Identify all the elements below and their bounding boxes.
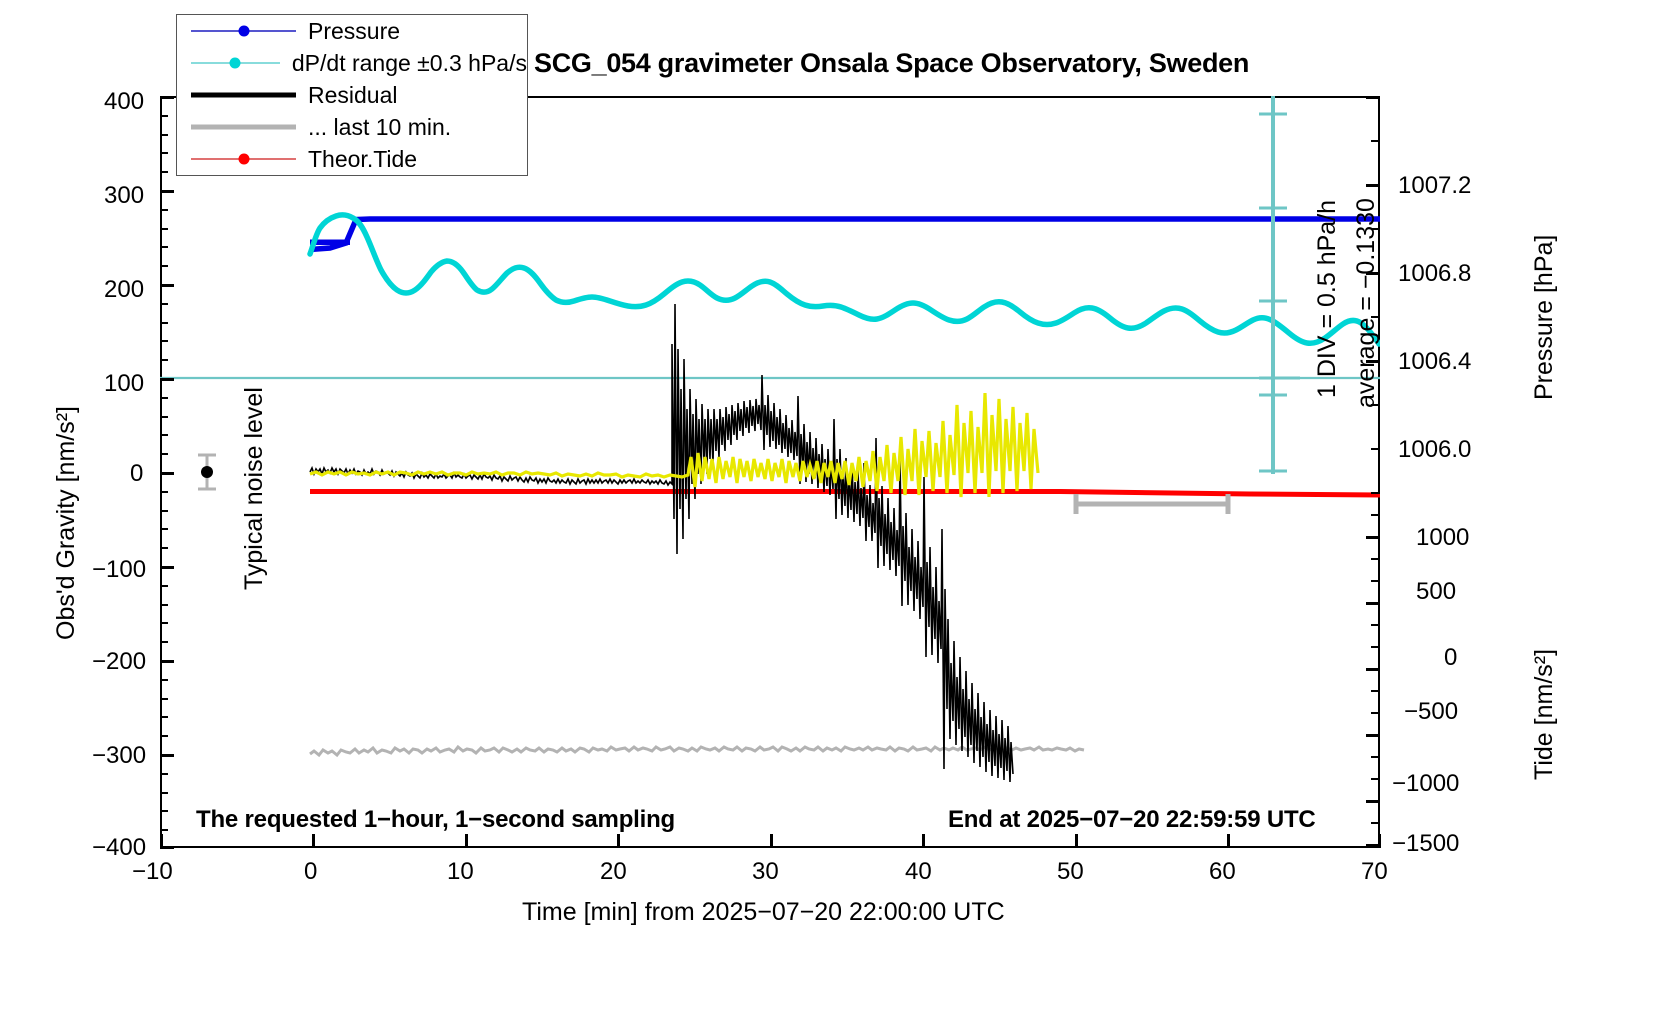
x-tick-60: 60: [1209, 858, 1236, 886]
legend-label-theortide: Theor.Tide: [308, 146, 417, 173]
last10-span-bar: [1076, 494, 1228, 514]
legend-item-dpdt[interactable]: dP/dt range ±0.3 hPa/s: [191, 47, 527, 79]
y-tick-m300: −300: [92, 742, 146, 770]
legend-label-last10: ... last 10 min.: [308, 114, 451, 141]
x-axis-label: Time [min] from 2025−07−20 22:00:00 UTC: [522, 898, 1005, 927]
tide-tick-500: 500: [1416, 578, 1456, 606]
x-tick-10: 10: [447, 858, 474, 886]
tide-axis-label: Tide [nm/s²]: [1530, 649, 1559, 780]
x-tick-40: 40: [905, 858, 932, 886]
typical-noise-label: Typical noise level: [240, 387, 269, 590]
x-tick-70: 70: [1361, 858, 1388, 886]
chart-title: SCG_054 gravimeter Onsala Space Observat…: [534, 48, 1249, 79]
pressure-tick-1006-8: 1006.8: [1398, 260, 1471, 288]
legend-label-dpdt: dP/dt range ±0.3 hPa/s: [292, 50, 527, 77]
typical-noise-marker: [198, 455, 216, 489]
dpdt-scale-bar: [1259, 96, 1300, 474]
legend-item-last10[interactable]: ... last 10 min.: [191, 111, 527, 143]
legend-swatch-last10: [191, 126, 296, 128]
plot-canvas: [160, 96, 1380, 848]
legend-swatch-residual: [191, 94, 296, 96]
pressure-tick-1006-0: 1006.0: [1398, 436, 1471, 464]
legend-swatch-pressure: [191, 30, 296, 32]
y-tick-0: 0: [130, 460, 143, 488]
x-tick-50: 50: [1057, 858, 1084, 886]
y-tick-300: 300: [104, 182, 144, 210]
legend-box: Pressure dP/dt range ±0.3 hPa/s Residual…: [176, 14, 528, 176]
tide-tick-0: 0: [1444, 644, 1457, 672]
legend-item-residual[interactable]: Residual: [191, 79, 527, 111]
tide-tick-m500: −500: [1404, 698, 1458, 726]
x-tick-20: 20: [600, 858, 627, 886]
y-axis-label: Obs'd Gravity [nm/s²]: [52, 406, 81, 640]
legend-swatch-theortide: [191, 158, 296, 160]
pressure-axis-label: Pressure [hPa]: [1530, 235, 1559, 400]
y-tick-m200: −200: [92, 648, 146, 676]
footer-right-text: End at 2025−07−20 22:59:59 UTC: [948, 806, 1316, 834]
y-tick-400: 400: [104, 88, 144, 116]
x-tick-0: 0: [304, 858, 317, 886]
dpdt-scale-label: 1 DIV = 0.5 hPa/h: [1313, 200, 1342, 398]
tide-tick-m1000: −1000: [1392, 770, 1459, 798]
x-tick-30: 30: [752, 858, 779, 886]
residual-trace: [310, 304, 1013, 782]
y-tick-m100: −100: [92, 556, 146, 584]
x-tick-m10: −10: [132, 858, 173, 886]
pressure-tick-1006-4: 1006.4: [1398, 348, 1471, 376]
dpdt-average-label: average = −0.1330: [1352, 198, 1381, 408]
tide-tick-1000: 1000: [1416, 524, 1469, 552]
legend-swatch-dpdt: [191, 62, 280, 64]
y-tick-200: 200: [104, 276, 144, 304]
tide-tick-m1500: −1500: [1392, 830, 1459, 858]
pressure-tick-1007-2: 1007.2: [1398, 172, 1471, 200]
legend-label-pressure: Pressure: [308, 18, 400, 45]
legend-item-theortide[interactable]: Theor.Tide: [191, 143, 527, 175]
x-axis-ticks: [160, 848, 1380, 849]
chart-root: SCG_054 gravimeter Onsala Space Observat…: [0, 0, 1676, 1020]
legend-item-pressure[interactable]: Pressure: [191, 15, 527, 47]
dpdt-curve: [310, 215, 1379, 344]
footer-left-text: The requested 1−hour, 1−second sampling: [196, 806, 675, 834]
legend-label-residual: Residual: [308, 82, 398, 109]
y-axis-ticks: [160, 96, 161, 848]
y-tick-100: 100: [104, 370, 144, 398]
pressure-line: [310, 219, 1380, 250]
